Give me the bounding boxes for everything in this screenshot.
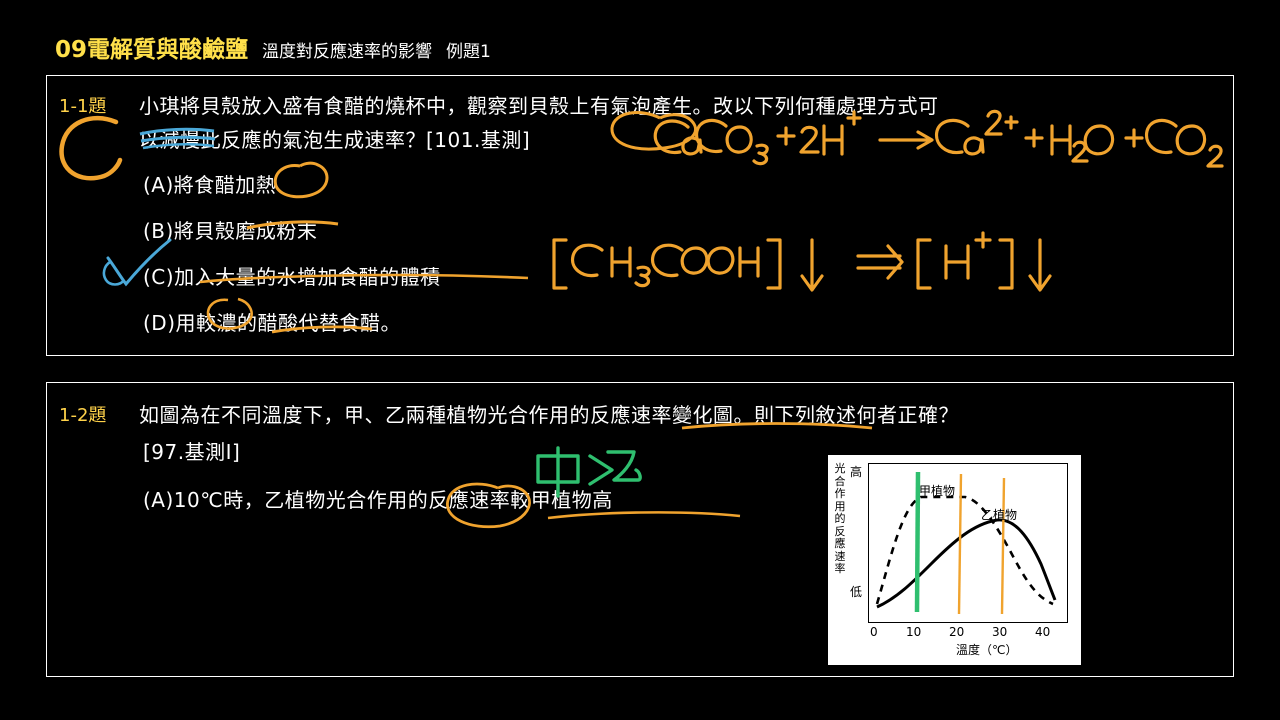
header-example-label: 例題1 xyxy=(446,37,491,62)
slide-header: 09電解質與酸鹼鹽 溫度對反應速率的影響 例題1 xyxy=(55,30,491,64)
series-jia-line xyxy=(877,497,1053,604)
chart-legend-yi: 乙植物 xyxy=(981,506,1017,523)
question-1-box: 1-1題 小琪將貝殼放入盛有食醋的燒杯中，觀察到貝殼上有氣泡產生。改以下列何種處… xyxy=(46,75,1234,356)
header-subtitle: 溫度對反應速率的影響 xyxy=(262,37,432,62)
marker-line-10c xyxy=(917,472,918,612)
photosynthesis-rate-chart: 光合作用的反應速率 高 低 甲植物 乙植物 0 10 xyxy=(828,455,1081,665)
question-2-option-a: (A)10℃時，乙植物光合作用的反應速率較甲植物高 xyxy=(143,483,613,517)
question-1-option-c: (C)加入大量的水增加食醋的體積 xyxy=(143,260,441,294)
question-1-line-2: 以減慢此反應的氣泡生成速率？[101.基測] xyxy=(139,123,530,157)
chart-y-high-label: 高 xyxy=(850,463,862,480)
question-1-option-b: (B)將貝殼磨成粉末 xyxy=(143,214,317,248)
chart-x-ticks: 0 10 20 30 40 xyxy=(868,625,1068,641)
question-1-number: 1-1題 xyxy=(59,92,106,118)
question-1-line-1: 小琪將貝殼放入盛有食醋的燒杯中，觀察到貝殼上有氣泡產生。改以下列何種處理方式可 xyxy=(139,89,939,123)
chart-x-tick-10: 10 xyxy=(906,625,921,639)
slide-page: 09電解質與酸鹼鹽 溫度對反應速率的影響 例題1 1-1題 小琪將貝殼放入盛有食… xyxy=(0,0,1280,720)
chart-svg xyxy=(869,464,1066,621)
series-yi-line xyxy=(877,520,1055,607)
question-1-option-a: (A)將食醋加熱 xyxy=(143,168,276,202)
marker-line-20c xyxy=(959,474,961,614)
question-1-option-d: (D)用較濃的醋酸代替食醋。 xyxy=(143,306,401,340)
chart-x-tick-20: 20 xyxy=(949,625,964,639)
question-2-line-1: 如圖為在不同溫度下，甲、乙兩種植物光合作用的反應速率變化圖。則下列敘述何者正確？ xyxy=(139,398,959,432)
chart-y-low-label: 低 xyxy=(850,583,862,600)
question-2-line-2: [97.基測Ⅰ] xyxy=(143,435,240,469)
chart-x-tick-30: 30 xyxy=(992,625,1007,639)
chart-plot-area: 甲植物 乙植物 xyxy=(868,463,1068,623)
chart-x-tick-40: 40 xyxy=(1035,625,1050,639)
chart-x-axis-label: 溫度（℃） xyxy=(956,641,1017,658)
marker-line-30c xyxy=(1002,478,1004,614)
chart-legend-jia: 甲植物 xyxy=(919,482,955,499)
question-2-number: 1-2題 xyxy=(59,401,106,427)
chart-y-axis-label: 光合作用的反應速率 xyxy=(832,463,848,576)
chart-x-tick-0: 0 xyxy=(870,625,878,639)
page-title: 09電解質與酸鹼鹽 xyxy=(55,30,248,64)
